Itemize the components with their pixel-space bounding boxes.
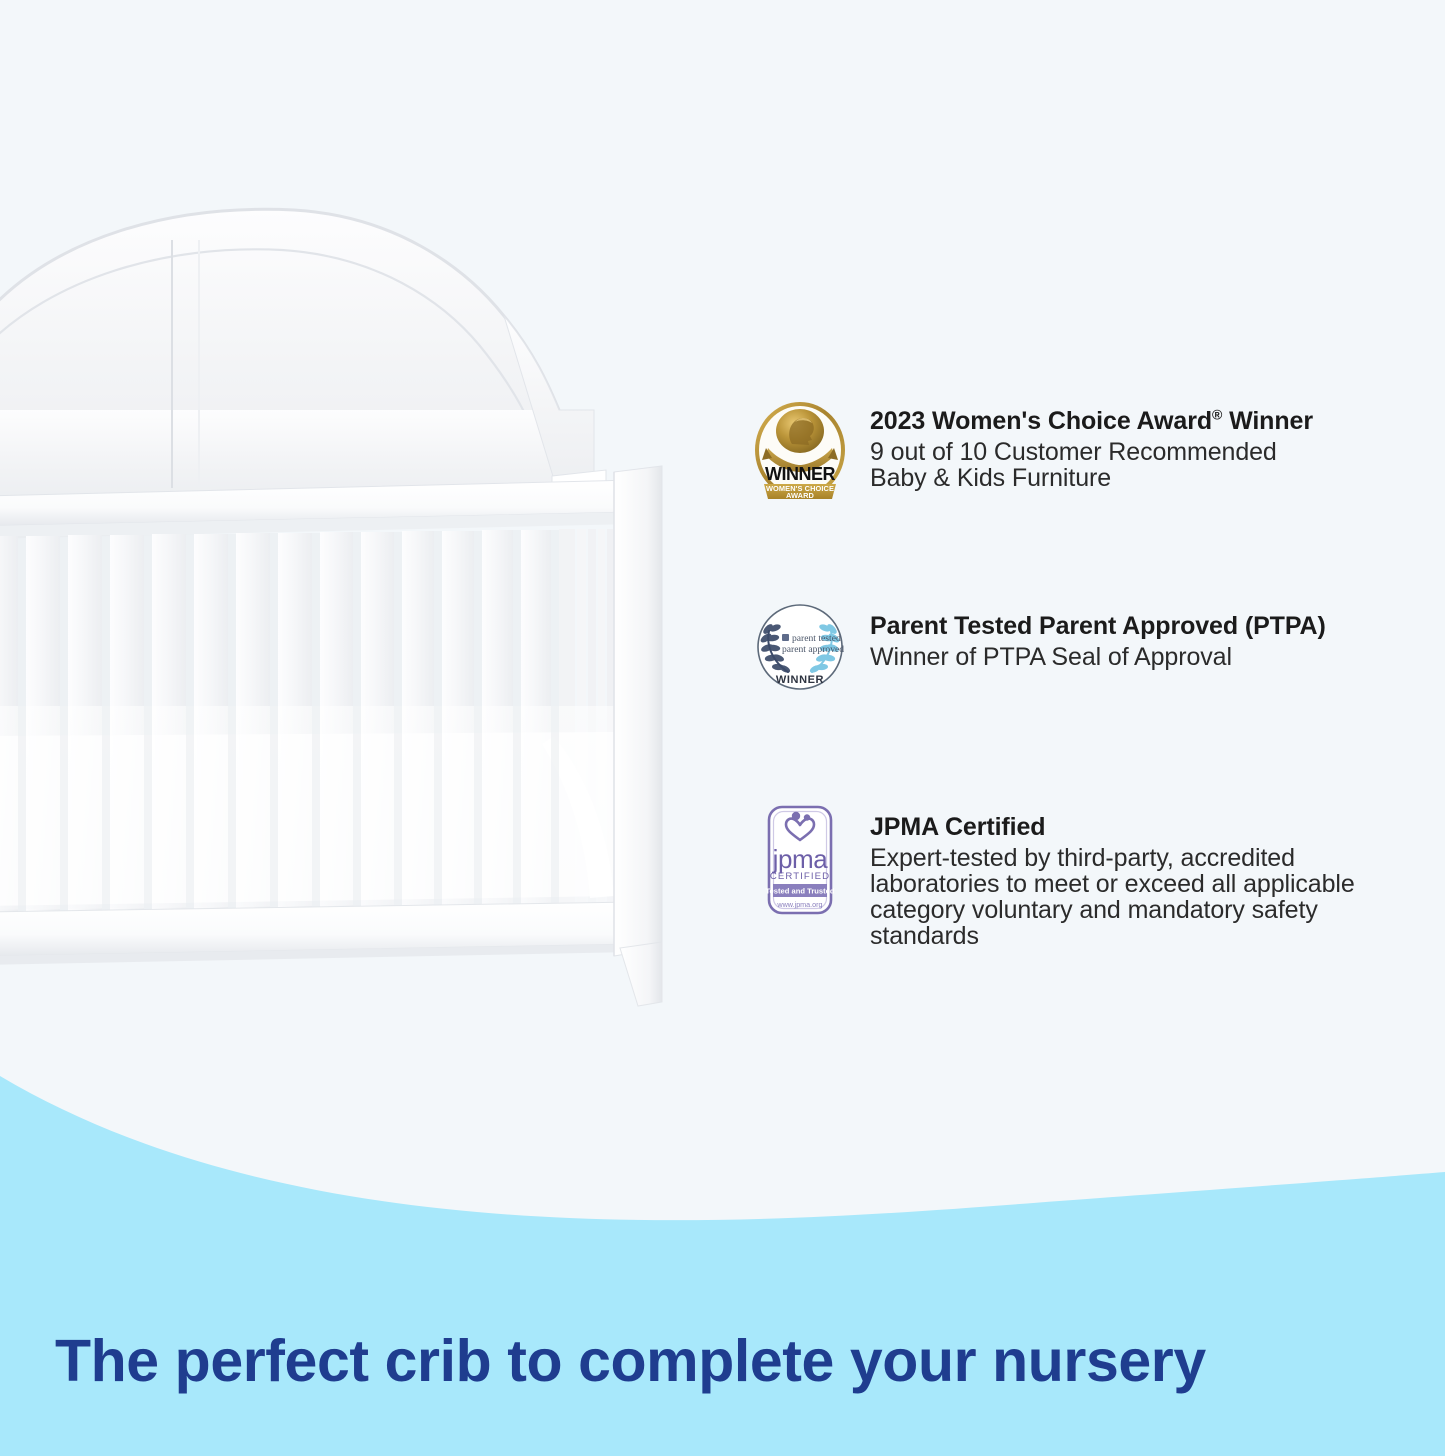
page-headline: The perfect crib to complete your nurser… <box>55 1327 1355 1395</box>
award-title-suffix: Winner <box>1222 407 1313 435</box>
ptpa-line1-label: parent tested <box>792 633 841 644</box>
row-spacer <box>752 707 1392 804</box>
crib-mattress <box>0 706 618 910</box>
crib-bottom-rail <box>0 902 634 965</box>
registered-mark: ® <box>1212 407 1222 423</box>
ptpa-line2-label: parent approved <box>782 644 844 655</box>
crib-headboard <box>0 209 606 500</box>
award-row-jpma: jpma CERTIFIED Tested and Trusted www.jp… <box>752 804 1392 949</box>
jpma-url-label: www.jpma.org <box>776 900 822 909</box>
jpma-certified-badge: jpma CERTIFIED Tested and Trusted www.jp… <box>752 804 848 908</box>
product-feature-panel: WINNER WOMEN'S CHOICE AWARD 2023 Women's… <box>0 0 1445 1456</box>
badge-winner-label: WINNER <box>765 464 835 484</box>
award-text-block: JPMA Certified Expert-tested by third-pa… <box>848 804 1392 949</box>
jpma-certified-label: CERTIFIED <box>770 871 830 882</box>
crib-product-image <box>0 196 694 1011</box>
crib-corner-post <box>614 466 662 1006</box>
ptpa-winner-label: WINNER <box>776 674 824 686</box>
award-title: Parent Tested Parent Approved (PTPA) <box>870 611 1392 641</box>
certifications-list: WINNER WOMEN'S CHOICE AWARD 2023 Women's… <box>752 398 1392 949</box>
ptpa-seal-badge: parent tested parent approved WINNER <box>752 603 848 707</box>
womens-choice-award-winner-badge: WINNER WOMEN'S CHOICE AWARD <box>752 398 848 502</box>
award-title: JPMA Certified <box>870 812 1392 842</box>
award-row-ptpa: parent tested parent approved WINNER Par… <box>752 603 1392 707</box>
badge-line2-label: AWARD <box>786 491 815 500</box>
award-description: Expert-tested by third-party, accredited… <box>870 845 1392 949</box>
award-description: 9 out of 10 Customer Recommended Baby & … <box>870 439 1392 491</box>
award-row-womens-choice: WINNER WOMEN'S CHOICE AWARD 2023 Women's… <box>752 398 1392 502</box>
jpma-brand-label: jpma <box>772 844 829 874</box>
row-spacer <box>752 502 1392 603</box>
award-text-block: Parent Tested Parent Approved (PTPA) Win… <box>848 603 1392 670</box>
award-title: 2023 Women's Choice Award® Winner <box>870 406 1392 436</box>
award-description: Winner of PTPA Seal of Approval <box>870 644 1392 670</box>
jpma-banner-label: Tested and Trusted <box>765 887 834 896</box>
award-text-block: 2023 Women's Choice Award® Winner 9 out … <box>848 398 1392 491</box>
award-title-prefix: 2023 Women's Choice Award <box>870 407 1212 435</box>
